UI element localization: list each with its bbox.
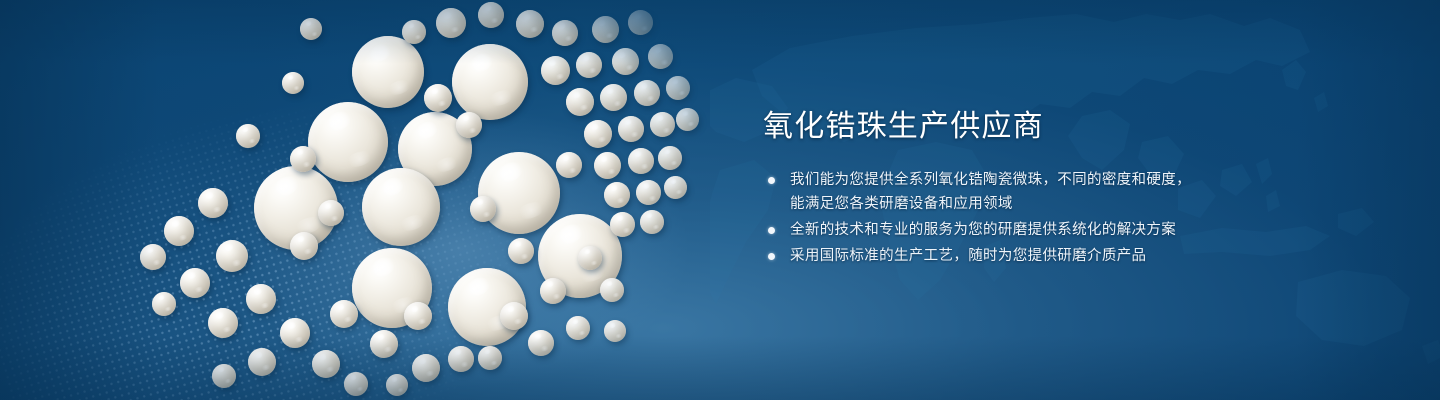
list-item-line: 我们能为您提供全系列氧化锆陶瓷微珠，不同的密度和硬度，	[790, 168, 1383, 192]
list-item-line: 全新的技术和专业的服务为您的研磨提供系统化的解决方案	[790, 218, 1383, 242]
list-item-line: 采用国际标准的生产工艺，随时为您提供研磨介质产品	[790, 244, 1383, 268]
bullet-dot-icon	[768, 227, 775, 234]
list-item: 采用国际标准的生产工艺，随时为您提供研磨介质产品	[763, 244, 1383, 268]
hero-banner: 氧化锆珠生产供应商 我们能为您提供全系列氧化锆陶瓷微珠，不同的密度和硬度，能满足…	[0, 0, 1440, 400]
list-item-line: 能满足您各类研磨设备和应用领域	[790, 192, 1383, 216]
page-title: 氧化锆珠生产供应商	[763, 108, 1383, 146]
list-item: 我们能为您提供全系列氧化锆陶瓷微珠，不同的密度和硬度，能满足您各类研磨设备和应用…	[763, 168, 1383, 216]
list-item: 全新的技术和专业的服务为您的研磨提供系统化的解决方案	[763, 218, 1383, 242]
feature-list: 我们能为您提供全系列氧化锆陶瓷微珠，不同的密度和硬度，能满足您各类研磨设备和应用…	[763, 168, 1383, 268]
banner-copy: 氧化锆珠生产供应商 我们能为您提供全系列氧化锆陶瓷微珠，不同的密度和硬度，能满足…	[763, 108, 1383, 270]
bullet-dot-icon	[768, 177, 775, 184]
bullet-dot-icon	[768, 253, 775, 260]
